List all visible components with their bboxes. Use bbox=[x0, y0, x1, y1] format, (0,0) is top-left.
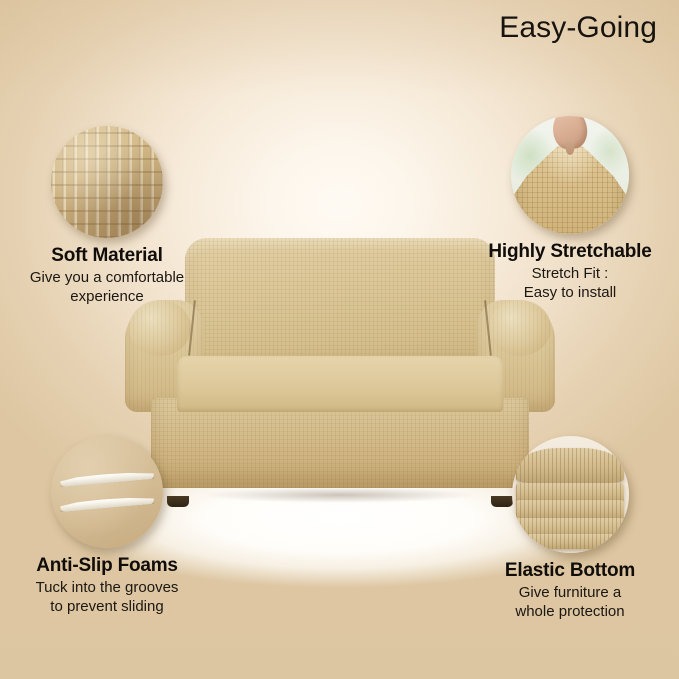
feature-anti-slip-foams: Anti-Slip Foams Tuck into the grooves to… bbox=[0, 436, 216, 617]
feature-caption: Anti-Slip Foams Tuck into the grooves to… bbox=[0, 555, 216, 617]
feature-subtitle: Give furniture a whole protection bbox=[461, 583, 679, 621]
feature-subtitle-line-2: Easy to install bbox=[461, 283, 679, 302]
sofa-arm-roll-right bbox=[489, 300, 551, 356]
feature-icon-wrap bbox=[0, 436, 216, 548]
feature-subtitle-line-1: Give you a comfortable bbox=[0, 268, 216, 287]
feature-caption: Elastic Bottom Give furniture a whole pr… bbox=[461, 560, 679, 622]
feature-subtitle-line-1: Give furniture a bbox=[461, 583, 679, 602]
feature-subtitle-line-2: to prevent sliding bbox=[0, 597, 216, 616]
fabric-fold bbox=[516, 448, 624, 483]
fabric-swatch-icon bbox=[51, 126, 163, 238]
feature-title: Anti-Slip Foams bbox=[0, 555, 216, 576]
feature-subtitle-line-1: Tuck into the grooves bbox=[0, 578, 216, 597]
feature-icon-wrap bbox=[0, 126, 216, 238]
pinch-grip-icon bbox=[566, 140, 575, 155]
feature-subtitle: Stretch Fit : Easy to install bbox=[461, 264, 679, 302]
brand-logo-text: Easy-Going bbox=[499, 11, 657, 45]
sofa-seat-cushion bbox=[177, 356, 503, 412]
feature-subtitle: Tuck into the grooves to prevent sliding bbox=[0, 578, 216, 616]
hand-stretching-fabric-icon bbox=[511, 116, 629, 234]
feature-subtitle-line-2: whole protection bbox=[461, 602, 679, 621]
foam-rods-icon bbox=[51, 436, 163, 548]
feature-subtitle-line-1: Stretch Fit : bbox=[461, 264, 679, 283]
feature-title: Elastic Bottom bbox=[461, 560, 679, 581]
feature-subtitle-line-2: experience bbox=[0, 287, 216, 306]
feature-soft-material: Soft Material Give you a comfortable exp… bbox=[0, 126, 216, 307]
feature-caption: Highly Stretchable Stretch Fit : Easy to… bbox=[461, 241, 679, 303]
feature-elastic-bottom: Elastic Bottom Give furniture a whole pr… bbox=[461, 436, 679, 622]
folded-fabric-stack bbox=[512, 436, 629, 553]
feature-title: Highly Stretchable bbox=[461, 241, 679, 262]
feature-title: Soft Material bbox=[0, 245, 216, 266]
sofa-backrest bbox=[185, 238, 495, 374]
sofa-arm-roll-left bbox=[129, 300, 191, 356]
foam-rod-lower bbox=[60, 495, 155, 512]
feature-caption: Soft Material Give you a comfortable exp… bbox=[0, 245, 216, 307]
feature-icon-wrap bbox=[461, 116, 679, 234]
feature-icon-wrap bbox=[461, 436, 679, 553]
folded-elastic-hem-icon bbox=[512, 436, 629, 553]
foam-rod-upper bbox=[60, 470, 155, 487]
fabric-fold bbox=[516, 534, 624, 549]
feature-highly-stretchable: Highly Stretchable Stretch Fit : Easy to… bbox=[461, 116, 679, 303]
feature-subtitle: Give you a comfortable experience bbox=[0, 268, 216, 306]
